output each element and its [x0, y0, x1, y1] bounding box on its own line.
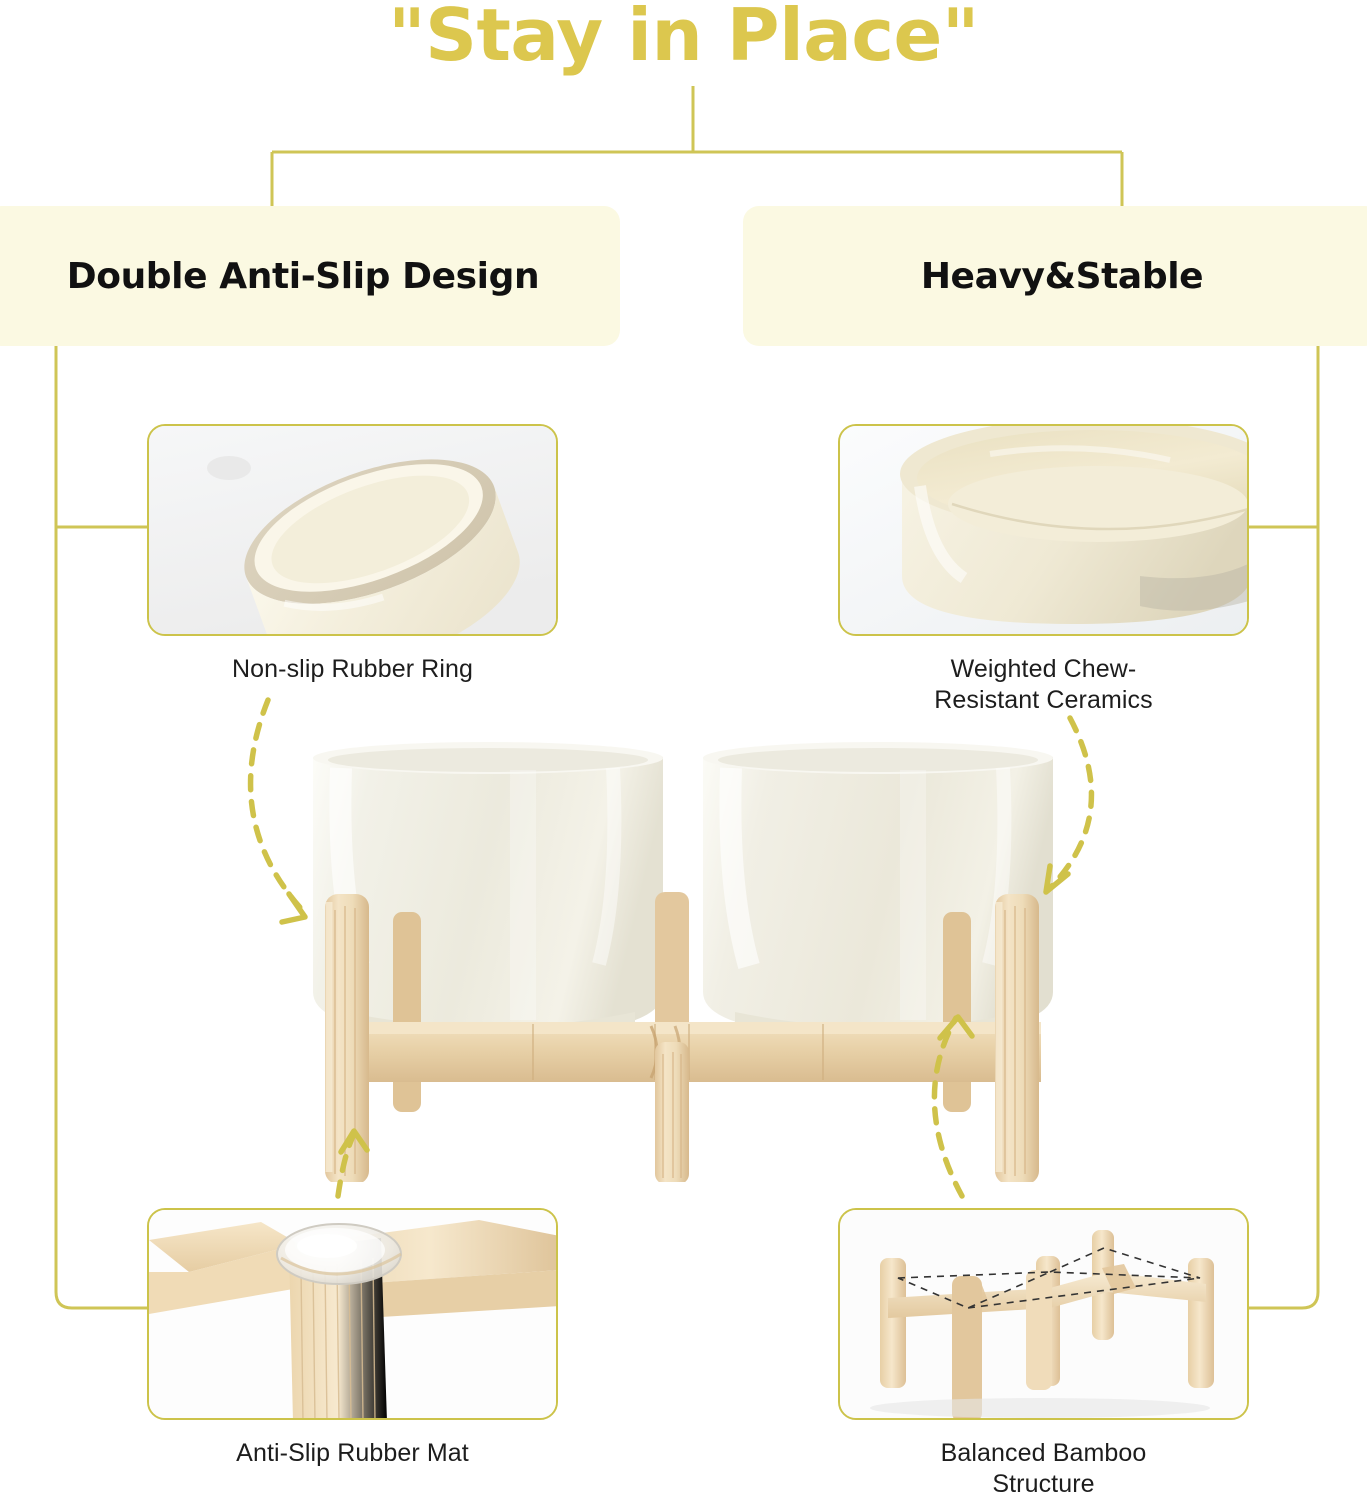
infographic-canvas: "Stay in Place" Double Anti-Slip Design … — [0, 0, 1367, 1500]
bamboo-structure-illustration — [840, 1210, 1249, 1420]
hero-product-photo — [283, 742, 1083, 1182]
category-label-anti-slip: Double Anti-Slip Design — [67, 256, 539, 297]
caption-bamboo-structure: Balanced Bamboo Structure — [838, 1438, 1249, 1499]
caption-rubber-mat: Anti-Slip Rubber Mat — [147, 1438, 558, 1469]
connector-right-spine — [1248, 346, 1318, 1308]
rubber-mat-illustration — [149, 1210, 558, 1420]
caption-rubber-ring: Non-slip Rubber Ring — [147, 654, 558, 685]
connector-left-spine — [56, 346, 148, 1308]
feature-photo-bamboo-structure — [838, 1208, 1249, 1420]
feature-photo-rubber-mat — [147, 1208, 558, 1420]
category-label-heavy-stable: Heavy&Stable — [921, 256, 1203, 297]
rubber-ring-illustration — [149, 426, 558, 636]
caption-bamboo-structure-line2: Structure — [992, 1470, 1094, 1498]
feature-photo-rubber-ring — [147, 424, 558, 636]
category-box-heavy-stable: Heavy&Stable — [743, 206, 1367, 346]
caption-chew-resistant-line1: Weighted Chew- — [951, 655, 1137, 683]
feature-photo-chew-resistant — [838, 424, 1249, 636]
caption-chew-resistant: Weighted Chew- Resistant Ceramics — [820, 654, 1267, 715]
page-title: "Stay in Place" — [0, 0, 1367, 74]
caption-chew-resistant-line2: Resistant Ceramics — [934, 686, 1153, 714]
caption-bamboo-structure-line1: Balanced Bamboo — [941, 1439, 1147, 1467]
ceramic-bowl-illustration — [840, 426, 1249, 636]
category-box-anti-slip: Double Anti-Slip Design — [0, 206, 620, 346]
